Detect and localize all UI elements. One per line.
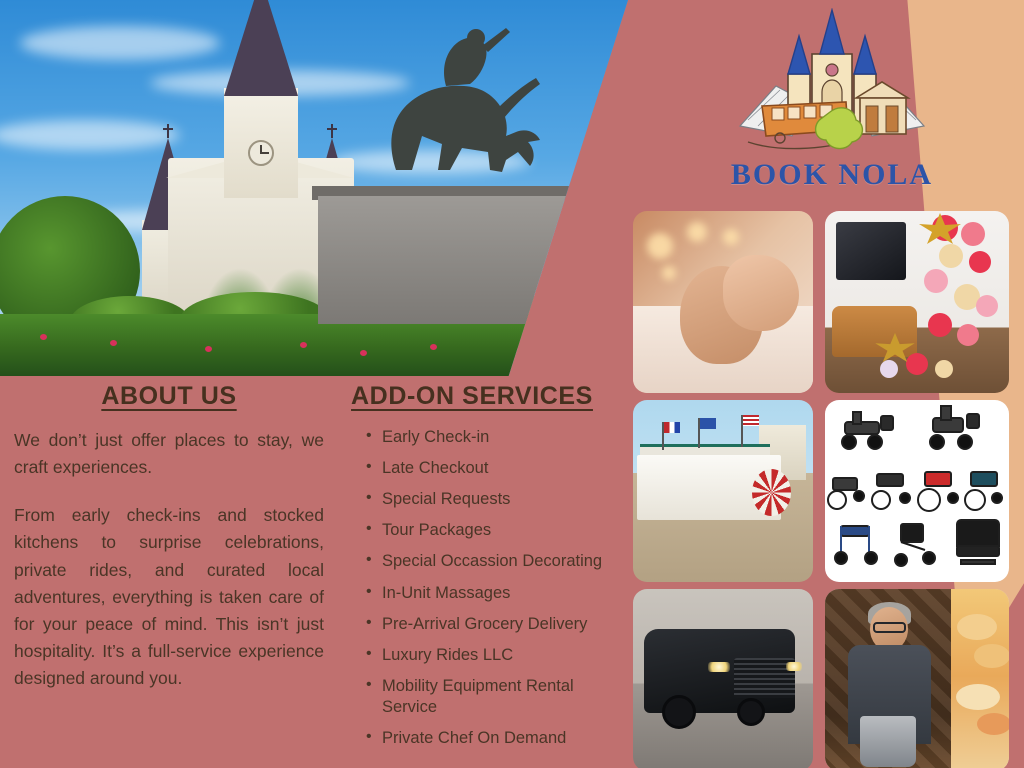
bokeh-light	[647, 233, 673, 259]
service-item[interactable]: In-Unit Massages	[370, 583, 622, 604]
suv-wheel	[662, 695, 696, 729]
logo-text: BOOK NOLA	[718, 158, 946, 192]
cross-icon	[167, 124, 169, 138]
wall-tv	[836, 222, 906, 280]
service-item[interactable]: Early Check-in	[370, 427, 622, 448]
flower	[360, 350, 367, 356]
pasta-piece	[974, 644, 1009, 668]
flower	[110, 340, 117, 346]
balloon	[961, 222, 985, 246]
photo-gallery	[633, 211, 1009, 768]
logo[interactable]: BOOK NOLA	[718, 8, 946, 204]
about-paragraph: We don’t just offer places to stay, we c…	[14, 427, 324, 481]
balloon	[976, 295, 998, 317]
flower	[300, 342, 307, 348]
services-column: ADD-ON SERVICES Early Check-in Late Chec…	[322, 382, 622, 759]
pasta-piece	[957, 614, 997, 640]
mobility-equipment-collage-icon	[825, 400, 1009, 582]
photo-spa-massage	[633, 211, 813, 393]
services-title: ADD-ON SERVICES	[322, 382, 622, 411]
service-item[interactable]: Late Checkout	[370, 458, 622, 479]
bokeh-light	[662, 266, 676, 280]
photo-balloon-decor	[825, 211, 1009, 393]
hero-image-jackson-square	[0, 0, 628, 376]
balloon	[969, 251, 991, 273]
about-paragraph: From early check-ins and stocked kitchen…	[14, 502, 324, 692]
headlight	[708, 662, 730, 672]
cathedral-clock	[248, 140, 274, 166]
photo-private-chef	[825, 589, 1009, 768]
about-title: ABOUT US	[14, 382, 324, 411]
flag	[700, 418, 716, 429]
stock-pot	[860, 716, 915, 767]
flag	[664, 422, 680, 433]
chef-scene	[825, 589, 951, 768]
bokeh-light	[687, 222, 707, 242]
balloon	[928, 313, 952, 337]
plated-food	[951, 589, 1009, 768]
shrimp-piece	[977, 713, 1009, 735]
therapist-hand	[723, 255, 799, 331]
text-section: ABOUT US We don’t just offer places to s…	[0, 376, 628, 768]
suv-wheel	[737, 698, 765, 726]
us-flag	[743, 415, 759, 426]
headlight	[786, 662, 802, 671]
balloon	[939, 244, 963, 268]
service-item[interactable]: Pre-Arrival Grocery Delivery	[370, 614, 622, 635]
hedge-row	[0, 314, 628, 376]
gold-star-icon	[873, 331, 917, 363]
gold-star-icon	[917, 211, 963, 245]
bokeh-light	[723, 229, 739, 245]
about-column: ABOUT US We don’t just offer places to s…	[14, 382, 324, 692]
service-item[interactable]: Special Occassion Decorating	[370, 551, 622, 572]
service-item[interactable]: Mobility Equipment Rental Service	[370, 676, 622, 718]
balloon	[924, 269, 948, 293]
statue-plinth	[318, 196, 568, 324]
brochure-page: BOOK NOLA	[0, 0, 1024, 768]
glasses-icon	[873, 622, 906, 633]
service-item[interactable]: Tour Packages	[370, 520, 622, 541]
flower	[40, 334, 47, 340]
steamboat-paddlewheel	[752, 469, 792, 516]
andrew-jackson-statue	[330, 20, 560, 188]
pasta-piece	[956, 684, 1000, 710]
photo-luxury-suv	[633, 589, 813, 768]
balloon	[935, 360, 953, 378]
service-item[interactable]: Private Chef On Demand	[370, 728, 622, 749]
services-list: Early Check-in Late Checkout Special Req…	[322, 427, 622, 749]
cathedral-central-spire	[224, 0, 298, 96]
flower	[430, 344, 437, 350]
balloon	[957, 324, 979, 346]
photo-steamboat-natchez	[633, 400, 813, 582]
service-item[interactable]: Luxury Rides LLC	[370, 645, 622, 666]
photo-mobility-equipment	[825, 400, 1009, 582]
flower	[205, 346, 212, 352]
cathedral-streetcar-logo-icon	[718, 8, 946, 164]
service-item[interactable]: Special Requests	[370, 489, 622, 510]
